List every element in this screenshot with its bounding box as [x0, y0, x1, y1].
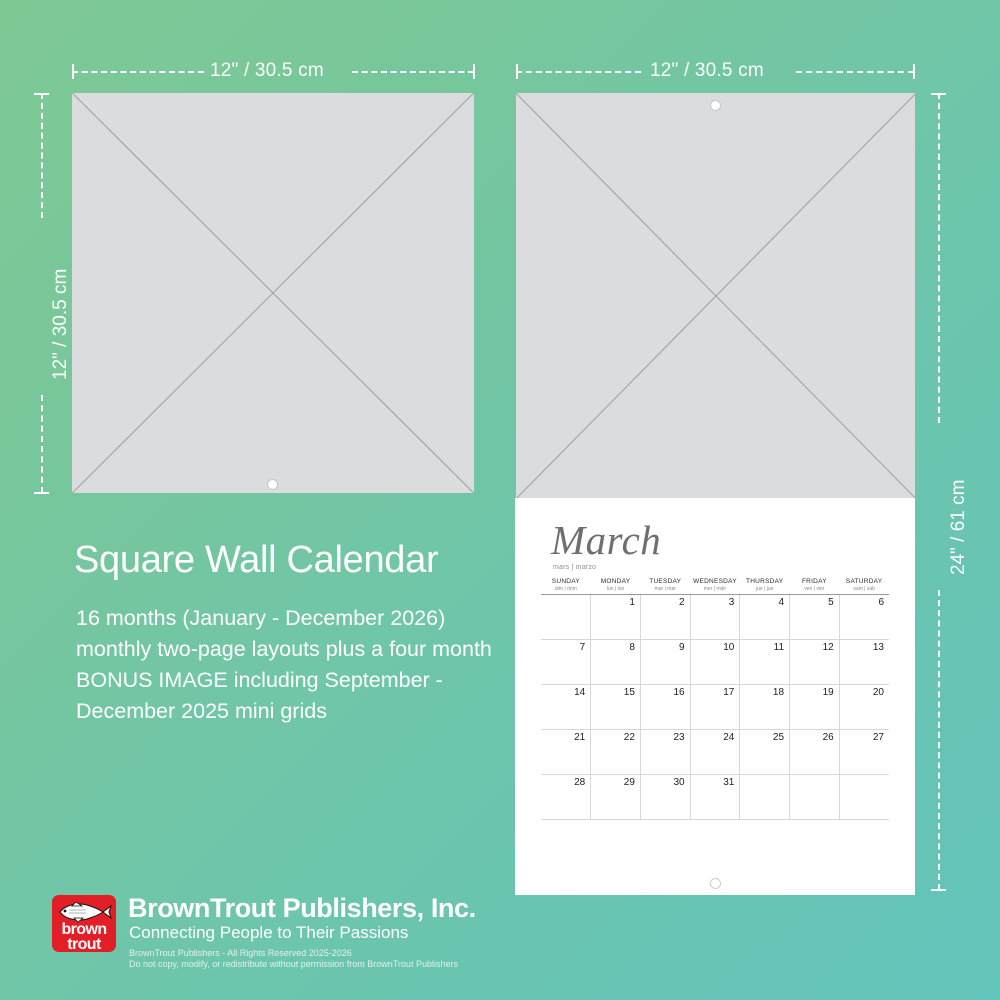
calendar-day-cell[interactable]: 24: [690, 730, 740, 775]
calendar-month-subtitle: mars | marzo: [553, 564, 596, 571]
calendar-week-row: 1 2 3 4 5 6: [541, 595, 889, 640]
calendar-week-row: 7 8 9 10 11 12 13: [541, 640, 889, 685]
calendar-day-cell[interactable]: 28: [541, 775, 591, 820]
calendar-day-cell[interactable]: 22: [591, 730, 641, 775]
product-description: 16 months (January - December 2026) mont…: [76, 603, 526, 727]
calendar-day-cell[interactable]: 17: [690, 685, 740, 730]
calendar-week-row: 21 22 23 24 25 26 27: [541, 730, 889, 775]
day-header-sub: mar | mar: [640, 586, 690, 592]
hole-punch-icon: [710, 100, 721, 111]
calendar-day-header-tuesday: TUESDAY mar | mar: [640, 576, 690, 595]
calendar-day-header-saturday: SATURDAY sam | sáb: [839, 576, 889, 595]
calendar-week-row: 28 29 30 31: [541, 775, 889, 820]
day-header-name: WEDNESDAY: [690, 578, 740, 586]
hole-punch-icon: [710, 878, 721, 889]
day-header-name: THURSDAY: [740, 578, 790, 586]
dim-dash-right-top-left: [352, 71, 474, 73]
calendar-day-cell[interactable]: 3: [690, 595, 740, 640]
calendar-header-row: SUNDAY dim | dom MONDAY lun | lun TUESDA…: [541, 576, 889, 595]
dim-dash-top-right-height: [938, 93, 940, 423]
calendar-day-cell[interactable]: 20: [839, 685, 889, 730]
dim-label-top-right-width: 12" / 30.5 cm: [650, 60, 764, 82]
calendar-day-cell[interactable]: 5: [790, 595, 840, 640]
calendar-day-cell[interactable]: 12: [790, 640, 840, 685]
calendar-day-cell[interactable]: 21: [541, 730, 591, 775]
hole-punch-icon: [267, 479, 278, 490]
calendar-day-cell[interactable]: 16: [640, 685, 690, 730]
calendar-day-cell[interactable]: [790, 775, 840, 820]
dim-cap-bottom-left-height: [34, 492, 49, 494]
dim-label-top-left-width: 12" / 30.5 cm: [210, 60, 324, 82]
legal-line-1: BrownTrout Publishers - All Rights Reser…: [129, 948, 352, 958]
dim-cap-right-top-right: [913, 64, 915, 79]
brand-name: BrownTrout Publishers, Inc.: [128, 893, 476, 924]
calendar-sheet: March mars | marzo SUNDAY dim | dom MOND…: [515, 498, 915, 895]
day-header-sub: jue | jue: [740, 586, 790, 592]
calendar-day-cell[interactable]: 15: [591, 685, 641, 730]
calendar-day-header-wednesday: WEDNESDAY mer | miér: [690, 576, 740, 595]
calendar-day-cell[interactable]: 23: [640, 730, 690, 775]
day-header-sub: lun | lun: [591, 586, 641, 592]
calendar-day-header-thursday: THURSDAY jue | jue: [740, 576, 790, 595]
calendar-day-cell[interactable]: 19: [790, 685, 840, 730]
dim-cap-right-top-left: [473, 64, 475, 79]
calendar-grid: SUNDAY dim | dom MONDAY lun | lun TUESDA…: [541, 576, 889, 820]
dim-dash-bottom-left-height: [41, 395, 43, 493]
day-header-sub: sam | sáb: [839, 586, 889, 592]
calendar-day-cell[interactable]: 13: [839, 640, 889, 685]
dim-cap-bottom-right-height: [931, 889, 946, 891]
calendar-day-cell[interactable]: [541, 595, 591, 640]
day-header-sub: ven | vier: [790, 586, 840, 592]
dim-label-right-height: 24" / 61 cm: [948, 480, 970, 575]
dim-dash-left-top-left: [72, 71, 204, 73]
calendar-day-cell[interactable]: 2: [640, 595, 690, 640]
legal-line-2: Do not copy, modify, or redistribute wit…: [129, 959, 458, 969]
calendar-day-cell[interactable]: 26: [790, 730, 840, 775]
calendar-day-cell[interactable]: 8: [591, 640, 641, 685]
calendar-day-cell[interactable]: 9: [640, 640, 690, 685]
calendar-day-header-friday: FRIDAY ven | vier: [790, 576, 840, 595]
calendar-day-cell[interactable]: 27: [839, 730, 889, 775]
logo-word-trout: trout: [52, 937, 116, 952]
day-header-sub: dim | dom: [541, 586, 591, 592]
dim-dash-left-top-right: [516, 71, 641, 73]
calendar-day-cell[interactable]: 30: [640, 775, 690, 820]
product-mockup-canvas: 12" / 30.5 cm 12" / 30.5 cm 12" / 30.5 c…: [0, 0, 1000, 1000]
calendar-day-cell[interactable]: [839, 775, 889, 820]
day-header-name: FRIDAY: [790, 578, 840, 586]
dim-dash-bottom-right-height: [938, 590, 940, 890]
calendar-day-cell[interactable]: 14: [541, 685, 591, 730]
day-header-name: SUNDAY: [541, 578, 591, 586]
left-panel-image-placeholder: [72, 93, 474, 493]
calendar-day-cell[interactable]: 25: [740, 730, 790, 775]
calendar-day-cell[interactable]: 4: [740, 595, 790, 640]
right-panel-image-placeholder: [516, 93, 915, 498]
calendar-day-cell[interactable]: 6: [839, 595, 889, 640]
brand-tagline: Connecting People to Their Passions: [129, 923, 408, 943]
calendar-week-row: 14 15 16 17 18 19 20: [541, 685, 889, 730]
calendar-day-cell[interactable]: 18: [740, 685, 790, 730]
browntrout-logo: brown trout: [52, 895, 116, 952]
dim-label-left-height: 12" / 30.5 cm: [50, 269, 72, 380]
dim-dash-right-top-right: [796, 71, 914, 73]
calendar-month-title: March: [551, 520, 661, 561]
calendar-day-header-monday: MONDAY lun | lun: [591, 576, 641, 595]
day-header-name: SATURDAY: [839, 578, 889, 586]
calendar-day-cell[interactable]: 7: [541, 640, 591, 685]
calendar-day-cell[interactable]: [740, 775, 790, 820]
calendar-day-cell[interactable]: 1: [591, 595, 641, 640]
calendar-day-cell[interactable]: 10: [690, 640, 740, 685]
calendar-day-cell[interactable]: 11: [740, 640, 790, 685]
day-header-name: MONDAY: [591, 578, 641, 586]
calendar-day-header-sunday: SUNDAY dim | dom: [541, 576, 591, 595]
calendar-day-cell[interactable]: 29: [591, 775, 641, 820]
dim-dash-top-left-height: [41, 93, 43, 218]
page-title: Square Wall Calendar: [74, 539, 438, 582]
day-header-sub: mer | miér: [690, 586, 740, 592]
day-header-name: TUESDAY: [640, 578, 690, 586]
calendar-day-cell[interactable]: 31: [690, 775, 740, 820]
